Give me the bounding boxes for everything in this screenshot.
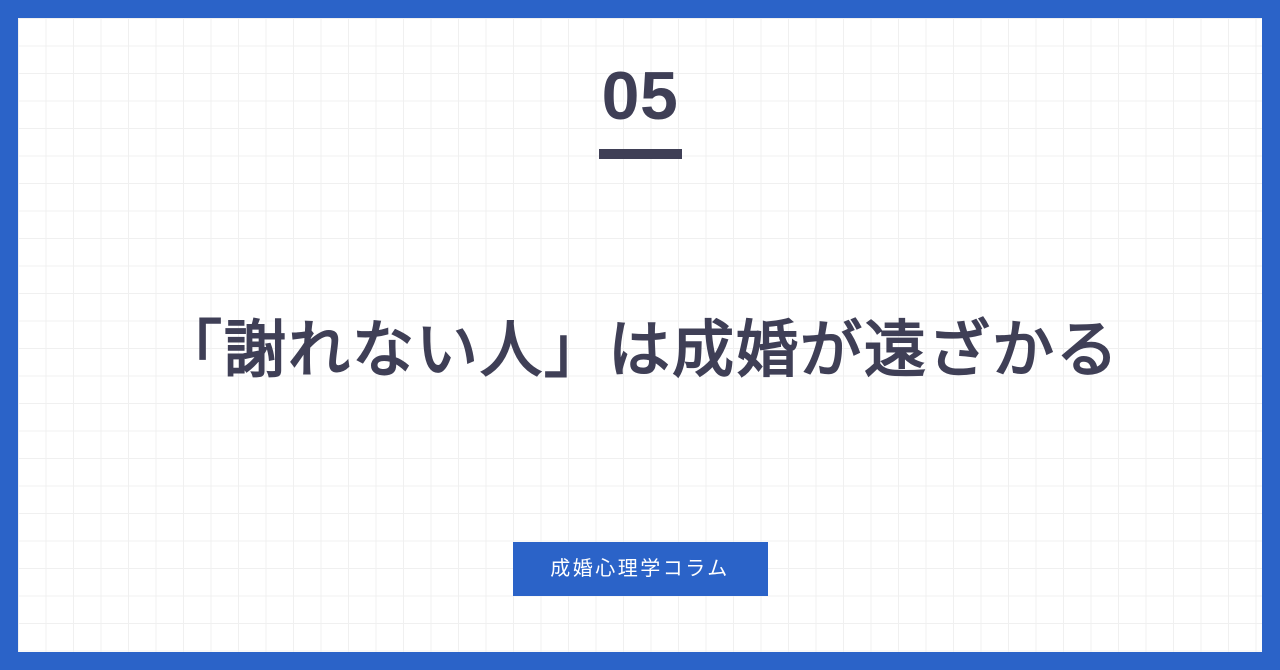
- page-title: 「謝れない人」は成婚が遠ざかる: [38, 314, 1242, 387]
- number-underline-rule: [599, 149, 682, 159]
- slide-number-block: 05: [18, 62, 1262, 159]
- category-badge: 成婚心理学コラム: [513, 542, 768, 596]
- slide-frame: 05 「謝れない人」は成婚が遠ざかる 成婚心理学コラム: [0, 0, 1280, 670]
- slide-number: 05: [18, 62, 1262, 130]
- headline-container: 「謝れない人」は成婚が遠ざかる: [18, 314, 1262, 387]
- grid-panel: 05 「謝れない人」は成婚が遠ざかる 成婚心理学コラム: [18, 18, 1262, 652]
- tag-container: 成婚心理学コラム: [18, 542, 1262, 596]
